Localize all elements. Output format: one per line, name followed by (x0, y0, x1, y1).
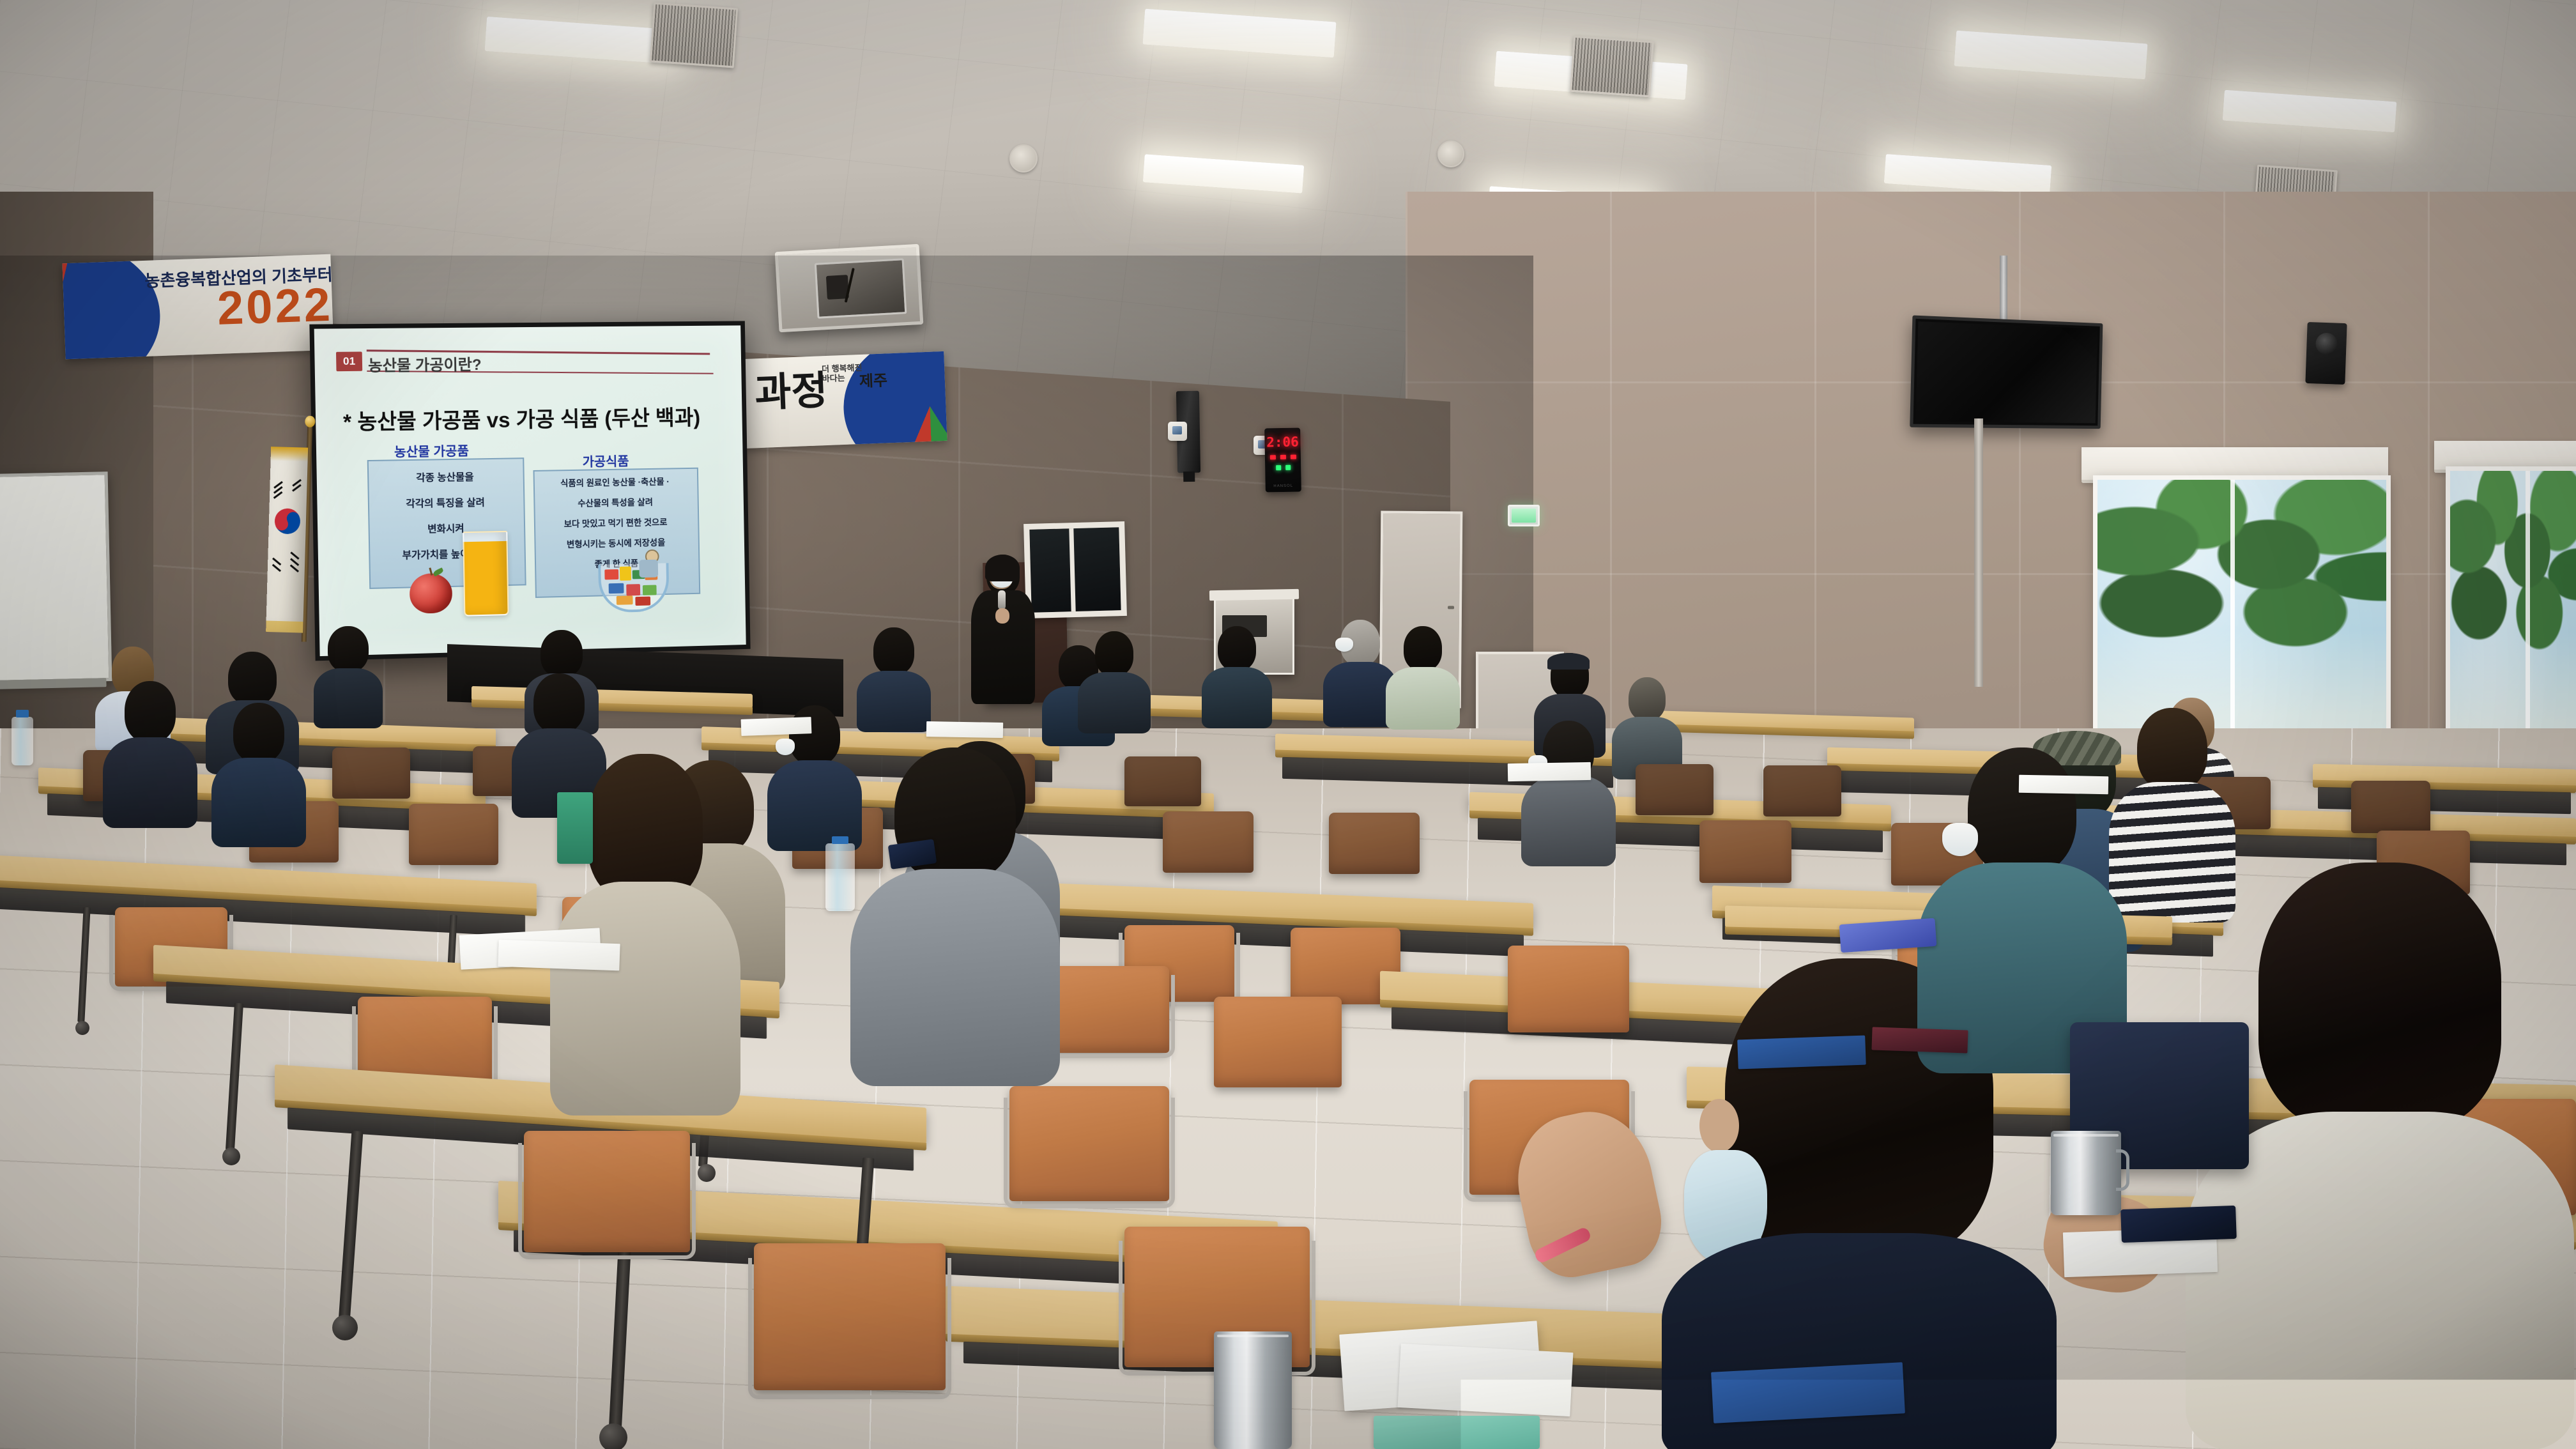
podium-top (1209, 589, 1299, 601)
chair[interactable] (332, 747, 410, 799)
bottle-cap (16, 710, 28, 717)
banner-left: 농촌융복합산업의 기초부터 2022 (63, 254, 334, 360)
chair[interactable] (524, 1131, 690, 1252)
attendee-body (211, 758, 306, 847)
attendee (102, 681, 198, 822)
chair[interactable] (1163, 811, 1253, 873)
attendee (1385, 626, 1460, 722)
tv-stand-pole (1974, 418, 1983, 687)
chair[interactable] (1214, 997, 1342, 1087)
slide-right-box-label: 가공식품 (582, 451, 629, 470)
attendee (1201, 626, 1273, 721)
attendee-body (857, 671, 931, 732)
flag-fringe-bottom (266, 447, 308, 633)
chair[interactable] (1763, 765, 1841, 816)
attendee-body (850, 869, 1060, 1086)
blue-notebook[interactable] (1711, 1362, 1905, 1423)
lecture-hall-photo: 농촌융복합산업의 기초부터 2022 과정 더 행복해진 바다는 제주 01 농… (0, 0, 2576, 1449)
tree-outside (2093, 475, 2391, 687)
tumbler-handle (2116, 1149, 2129, 1191)
emergency-exit-sign (1508, 505, 1540, 526)
juice-glass-illustration (463, 531, 509, 617)
exit-sign-glow (1512, 509, 1536, 523)
handout-paper (1398, 1344, 1574, 1416)
smoke-detector-icon (1168, 422, 1187, 441)
wall-monitor (1910, 315, 2103, 429)
attendee-head (873, 627, 914, 675)
chair[interactable] (2351, 781, 2430, 833)
flag-cloth (266, 447, 308, 633)
attendee-cap (1547, 653, 1590, 670)
blue-notebook[interactable] (1737, 1036, 1866, 1069)
attendee-ear (1699, 1099, 1739, 1153)
attendee (856, 627, 931, 723)
slide-title: * 농산물 가공품 vs 가공 식품 (두산 백과) (343, 401, 701, 436)
attendee-face-mask (1942, 823, 1978, 856)
projection-screen: 01 농산물 가공이란? * 농산물 가공품 vs 가공 식품 (두산 백과) … (309, 321, 750, 661)
slide-section-heading: 농산물 가공이란? (368, 352, 482, 376)
attendee-body (1078, 672, 1151, 733)
attendee-head (2137, 708, 2207, 791)
presenter-hair (985, 555, 1020, 581)
chair[interactable] (1124, 756, 1201, 806)
handout-paper (1508, 762, 1591, 781)
chair[interactable] (409, 804, 498, 865)
chair[interactable] (1009, 1086, 1169, 1201)
attendee-head (533, 673, 585, 733)
presenter (970, 555, 1036, 701)
attendee-head (2258, 862, 2501, 1131)
cart-person-illustration (648, 549, 668, 578)
handout-paper (926, 721, 1003, 738)
smartphone[interactable] (2120, 1206, 2237, 1243)
handout-paper (2019, 775, 2108, 794)
attendee (1077, 631, 1151, 724)
attendee-head (1095, 631, 1133, 676)
attendee-body (1521, 776, 1616, 866)
projector-body (815, 258, 907, 319)
speaker-bracket (1183, 471, 1195, 482)
tumbler-lip (2053, 1134, 2118, 1137)
green-tumbler[interactable] (557, 792, 593, 864)
attendee-head (1218, 626, 1256, 671)
cart-person-body (639, 560, 658, 578)
attendee-head (1404, 626, 1442, 671)
attendee-head (1968, 747, 2076, 875)
chair[interactable] (1636, 764, 1713, 815)
attendee-body (1386, 667, 1460, 730)
attendee (850, 747, 1061, 1080)
clock-indicator-row-green (1265, 465, 1301, 471)
attendee (1611, 677, 1683, 772)
presentation-slide: 01 농산물 가공이란? * 농산물 가공품 vs 가공 식품 (두산 백과) … (314, 325, 746, 656)
tree-outside (2446, 466, 2576, 693)
attendee (313, 626, 383, 722)
smoke-detector-icon (1009, 144, 1038, 172)
tumbler-lip (1217, 1335, 1289, 1337)
banner-right-region: 제주 (859, 367, 887, 391)
attendee-head (228, 652, 277, 705)
attendee-head (328, 626, 369, 672)
smoke-detector-icon (1437, 141, 1464, 167)
bottle-cap (832, 836, 848, 844)
microphone[interactable] (998, 590, 1006, 609)
ceiling-projector (775, 244, 924, 332)
attendee-face-mask (1335, 638, 1353, 652)
digital-clock: 2:06 HANSOL (1264, 428, 1301, 493)
attendee-head (588, 754, 703, 901)
attendee-body (1202, 667, 1272, 728)
ceiling-air-vent (1570, 36, 1654, 98)
attendee-head (540, 630, 583, 677)
attendee-head (789, 705, 840, 765)
water-bottle[interactable] (11, 717, 33, 765)
presenter-hand (995, 608, 1009, 624)
chair[interactable] (1048, 966, 1169, 1053)
attendee (211, 703, 307, 841)
apple-illustration (410, 573, 453, 614)
chair[interactable] (1508, 946, 1629, 1032)
handout-paper (741, 717, 812, 736)
stainless-tumbler[interactable] (1214, 1331, 1292, 1449)
blue-notebook[interactable] (1871, 1027, 1968, 1053)
wall-speaker (2305, 322, 2347, 385)
stainless-tumbler[interactable] (2051, 1131, 2121, 1215)
korean-flag (266, 447, 316, 640)
chair[interactable] (754, 1243, 946, 1390)
chair[interactable] (1699, 820, 1791, 883)
grocery-basket-illustration (595, 549, 671, 614)
slide-left-box-label: 농산물 가공품 (394, 440, 469, 460)
slide-section-badge: 01 (336, 351, 362, 371)
handout-paper (498, 940, 620, 971)
banner-right: 과정 더 행복해진 바다는 제주 (739, 351, 947, 448)
attendee-face-mask (776, 739, 795, 755)
clock-brand: HANSOL (1266, 484, 1301, 489)
attendee-body (550, 882, 740, 1115)
attendee-head (1629, 677, 1666, 721)
clock-time: 2:06 (1264, 434, 1300, 450)
clock-indicator-row-red (1265, 455, 1301, 460)
green-card (1374, 1416, 1540, 1449)
chair[interactable] (1329, 813, 1420, 874)
door-knob[interactable] (1448, 606, 1454, 609)
attendee-head (125, 681, 176, 742)
ceiling-air-vent (650, 3, 738, 68)
banner-right-title: 과정 (754, 371, 828, 413)
attendee (1521, 721, 1616, 861)
monitor-screen (1916, 321, 2097, 423)
attendee-head (233, 703, 284, 763)
slide-left-box-line: 각종 농산물을 (367, 469, 522, 487)
attendee-body (103, 737, 197, 828)
water-bottle[interactable] (825, 843, 855, 911)
slide-left-box-line: 각각의 특징을 살려 (368, 494, 523, 513)
attendee (1917, 747, 2127, 1067)
attendee-body (314, 668, 383, 728)
